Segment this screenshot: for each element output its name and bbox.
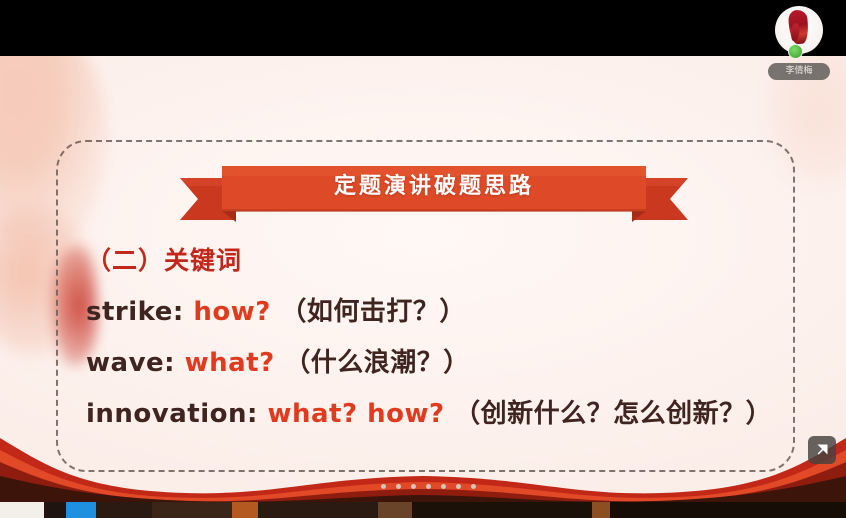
taskbar-strip xyxy=(0,502,846,518)
taskbar-segment xyxy=(610,502,846,518)
collapse-button[interactable] xyxy=(808,436,836,464)
online-status-icon xyxy=(788,44,803,59)
ellipsis-dot xyxy=(411,484,416,489)
presentation-slide: 定题演讲破题思路 （二）关键词 strike: how? （如何击打？） wav… xyxy=(0,56,846,502)
slide-body-text: （二）关键词 strike: how? （如何击打？） wave: what? … xyxy=(86,241,776,444)
keyword-line-strike: strike: how? （如何击打？） xyxy=(86,291,776,328)
ellipsis-dots xyxy=(381,484,476,489)
collapse-arrow-icon xyxy=(814,442,831,459)
top-letterbox-bar xyxy=(0,0,846,56)
keyword-line-innovation: innovation: what? how? （创新什么？怎么创新？） xyxy=(86,393,776,430)
banner-title: 定题演讲破题思路 xyxy=(180,166,688,208)
keyword-gloss-wave: （什么浪潮？） xyxy=(284,348,470,378)
slide-heading: （二）关键词 xyxy=(86,241,776,277)
ellipsis-dot xyxy=(456,484,461,489)
keyword-question-wave: what? xyxy=(185,348,275,378)
keyword-term-wave: wave: xyxy=(86,348,175,378)
screen-share-view: 定题演讲破题思路 （二）关键词 strike: how? （如何击打？） wav… xyxy=(0,0,846,518)
person-avatar-icon xyxy=(788,9,809,44)
keyword-gloss-innovation: （创新什么？怎么创新？） xyxy=(454,399,772,429)
taskbar-segment xyxy=(258,502,378,518)
presenter-avatar-tile[interactable]: 李倩梅 xyxy=(768,6,830,84)
taskbar-segment xyxy=(96,502,152,518)
keyword-gloss-strike: （如何击打？） xyxy=(280,297,466,327)
keyword-term-innovation: innovation: xyxy=(86,399,258,429)
taskbar-segment xyxy=(412,502,592,518)
ellipsis-dot xyxy=(471,484,476,489)
ellipsis-dot xyxy=(426,484,431,489)
taskbar-segment xyxy=(592,502,610,518)
ellipsis-dot xyxy=(381,484,386,489)
ribbon-banner: 定题演讲破题思路 xyxy=(180,166,688,224)
taskbar-segment xyxy=(378,502,412,518)
taskbar-segment xyxy=(0,502,44,518)
keyword-line-wave: wave: what? （什么浪潮？） xyxy=(86,342,776,379)
keyword-question-strike: how? xyxy=(193,297,270,327)
taskbar-segment xyxy=(44,502,66,518)
taskbar-segment xyxy=(66,502,96,518)
presenter-name-label: 李倩梅 xyxy=(768,63,830,80)
taskbar-segment xyxy=(152,502,232,518)
ellipsis-dot xyxy=(396,484,401,489)
ellipsis-dot xyxy=(441,484,446,489)
taskbar-segment xyxy=(232,502,258,518)
keyword-term-strike: strike: xyxy=(86,297,184,327)
keyword-question-innovation: what? how? xyxy=(267,399,444,429)
